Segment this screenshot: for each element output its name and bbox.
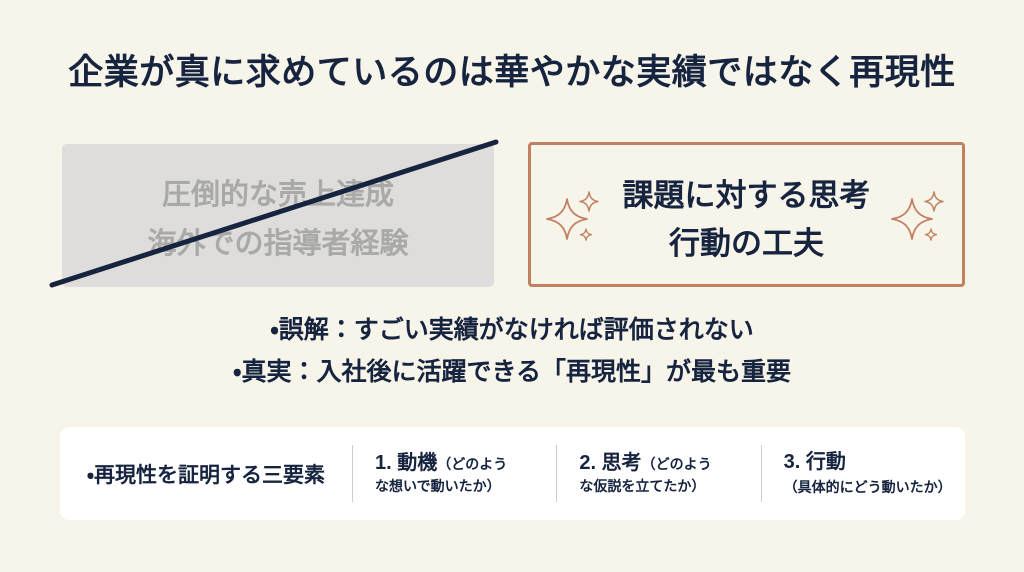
- element-note-inline-2: （どのよう: [642, 456, 712, 472]
- bullet-list: ・誤解：すごい実績がなければ評価されない ・真実：入社後に活躍できる「再現性」が…: [0, 318, 1024, 385]
- element-note-inline-1: （どのよう: [437, 456, 507, 472]
- crossed-out-box: 圧倒的な売上達成 海外での指導者経験: [62, 144, 494, 287]
- element-title-1: 1. 動機（どのよう: [375, 452, 556, 475]
- element-title-2: 2. 思考（どのよう: [579, 452, 760, 475]
- element-note-2: な仮説を立てたか）: [579, 478, 760, 494]
- element-note-1: な想いで動いたか）: [375, 478, 556, 494]
- page-title: 企業が真に求めているのは華やかな実績ではなく再現性: [0, 44, 1024, 95]
- crossed-out-line-2: 海外での指導者経験: [62, 220, 494, 262]
- highlight-box: 課題に対する思考 行動の工夫: [528, 142, 965, 287]
- three-elements-card: ・再現性を証明する三要素 1. 動機（どのよう な想いで動いたか） 2. 思考（…: [60, 427, 965, 520]
- bullet-item: ・誤解：すごい実績がなければ評価されない: [0, 318, 1024, 343]
- bullet-item: ・真実：入社後に活躍できる「再現性」が最も重要: [0, 360, 1024, 385]
- crossed-out-line-1: 圧倒的な売上達成: [62, 171, 494, 213]
- slide-canvas: 企業が真に求めているのは華やかな実績ではなく再現性 圧倒的な売上達成 海外での指…: [0, 0, 1024, 572]
- element-item-2: 2. 思考（どのよう な仮説を立てたか）: [557, 427, 760, 520]
- sparkle-icon: [890, 189, 948, 247]
- element-title-3: 3. 行動: [784, 451, 965, 474]
- three-elements-label: ・再現性を証明する三要素: [60, 427, 352, 520]
- element-item-3: 3. 行動 （具体的にどう動いたか）: [762, 427, 965, 520]
- element-item-1: 1. 動機（どのよう な想いで動いたか）: [353, 427, 556, 520]
- element-note-3: （具体的にどう動いたか）: [784, 479, 965, 495]
